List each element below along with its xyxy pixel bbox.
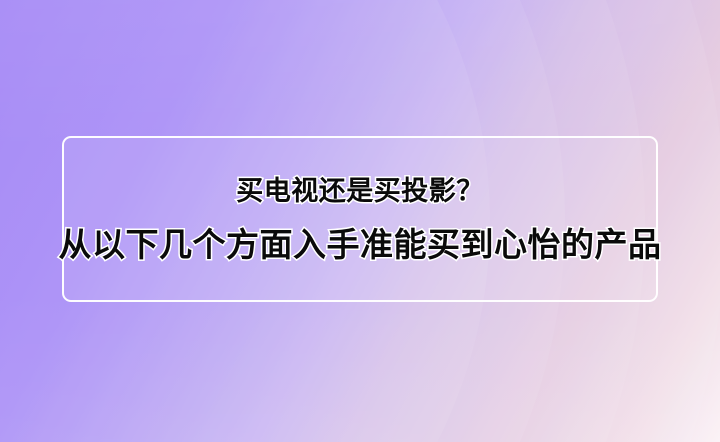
- headline-line-1: 买电视还是买投影？: [236, 176, 484, 206]
- headline-card: 买电视还是买投影？ 从以下几个方面入手准能买到心怡的产品: [62, 136, 658, 302]
- promo-banner: 买电视还是买投影？ 从以下几个方面入手准能买到心怡的产品: [0, 0, 720, 442]
- headline-line-2: 从以下几个方面入手准能买到心怡的产品: [59, 227, 662, 263]
